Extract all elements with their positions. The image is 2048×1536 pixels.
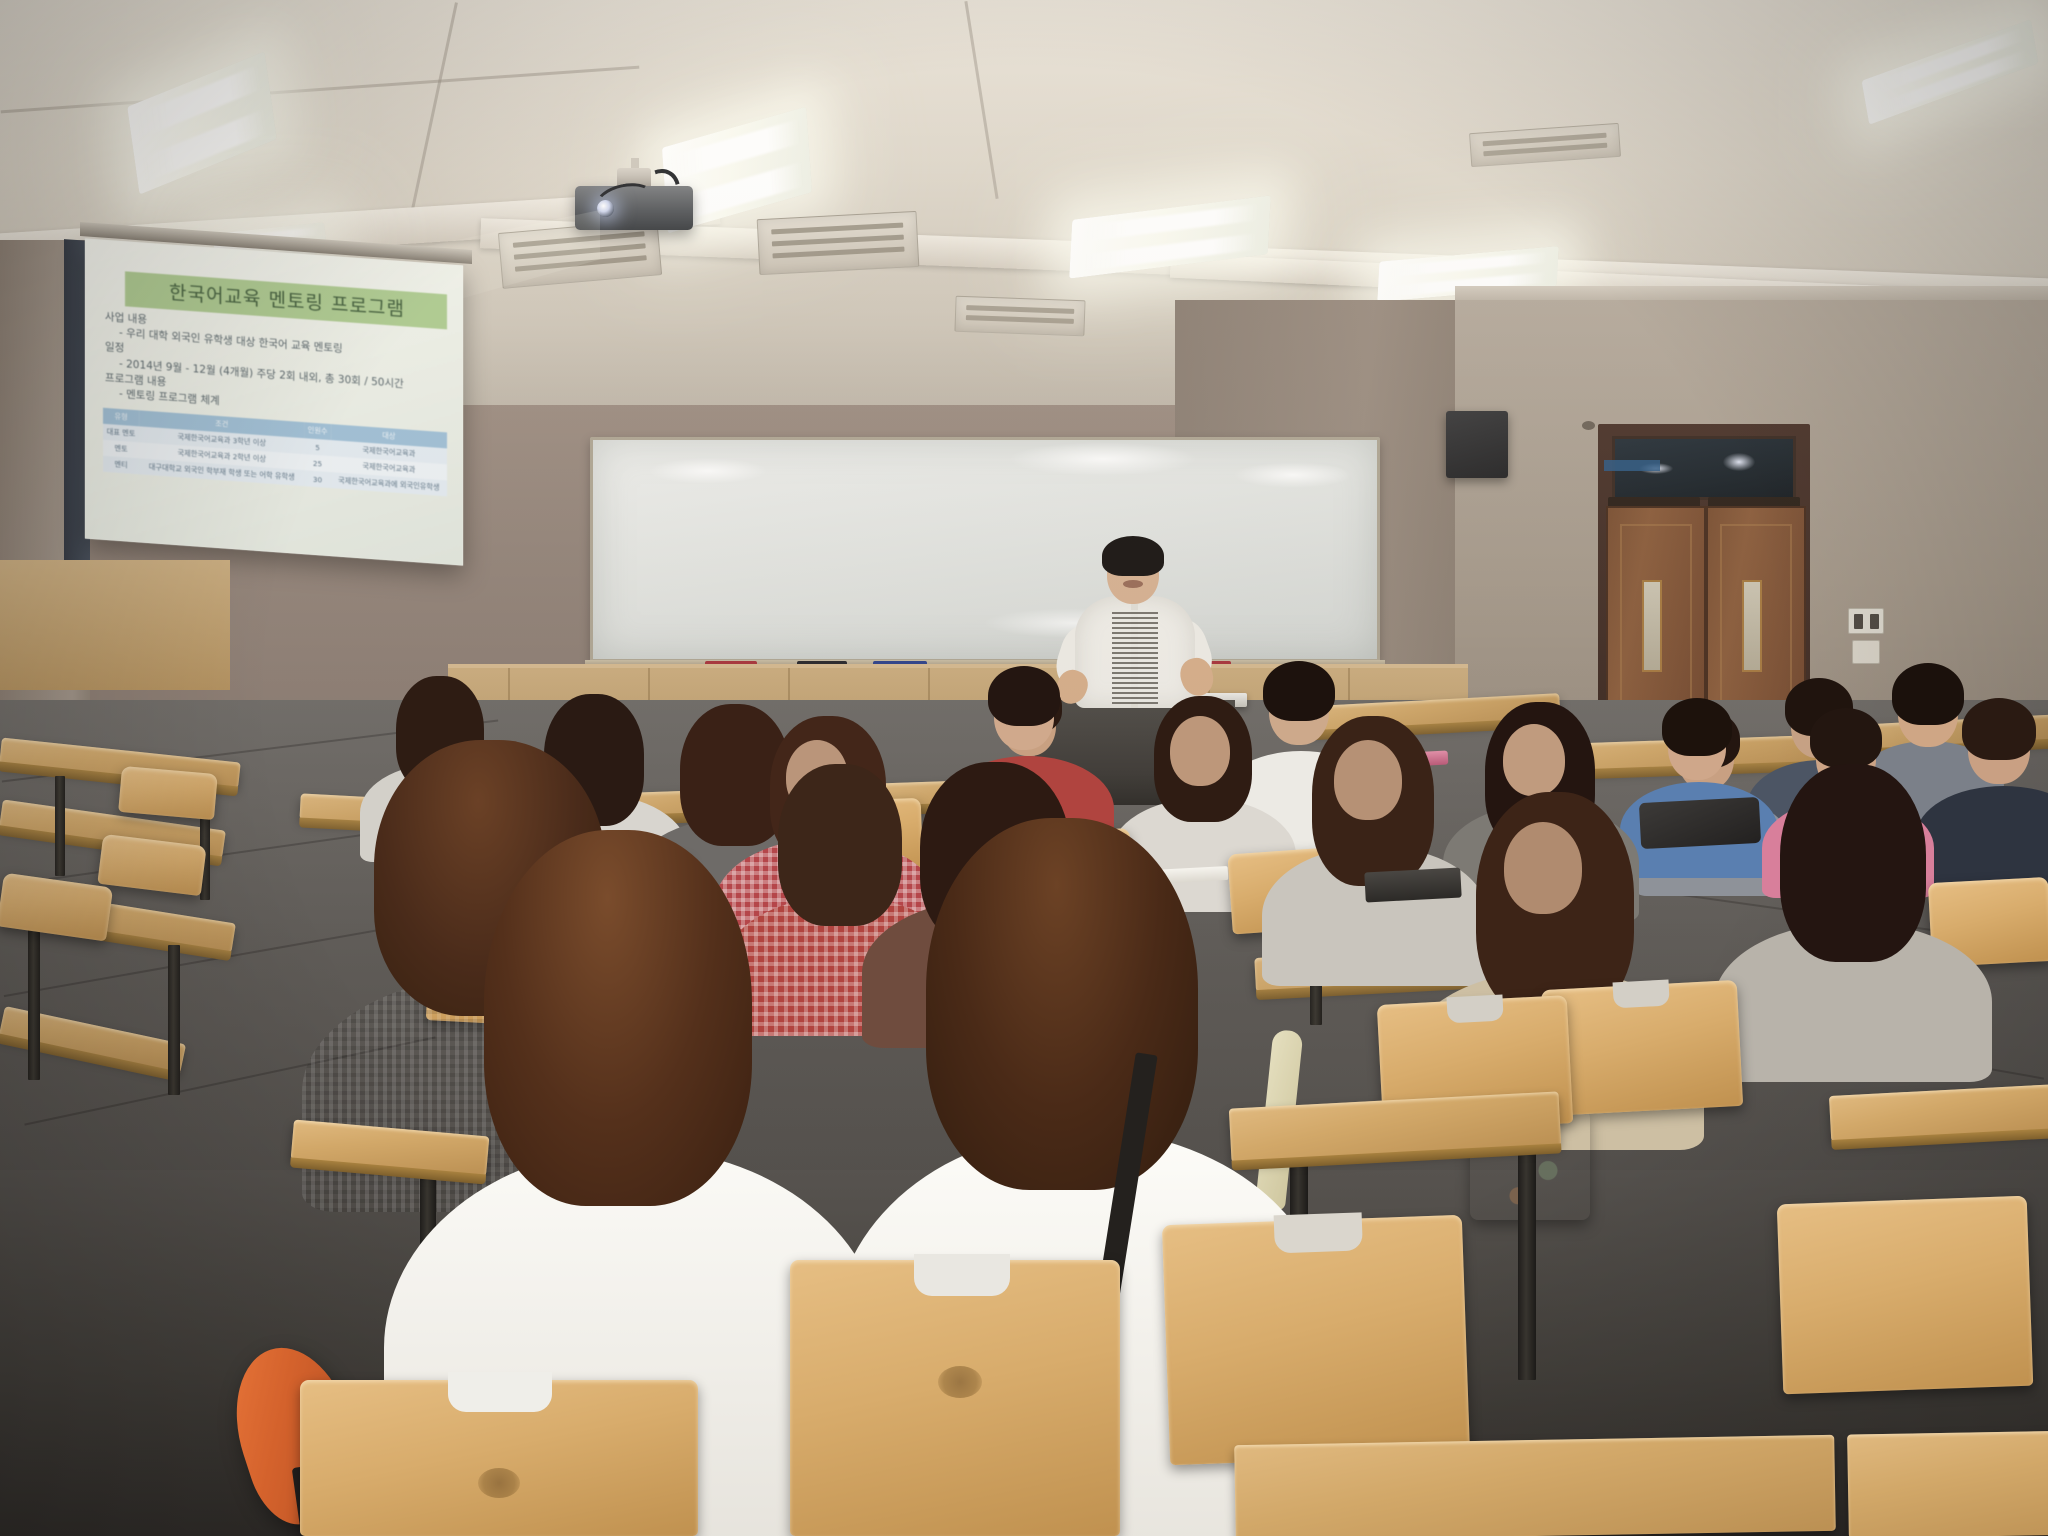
chair[interactable] xyxy=(118,766,218,820)
desk-leg xyxy=(28,930,40,1080)
chair[interactable] xyxy=(1777,1196,2033,1395)
slide-table-header-count: 인원수 xyxy=(304,422,330,440)
cell-count: 30 xyxy=(304,470,330,488)
audience-person xyxy=(1736,760,1966,1050)
projection-screen: 한국어교육 멘토링 프로그램 사업 내용 - 우리 대학 외국인 유학생 대상 … xyxy=(85,238,463,565)
slide-body: 사업 내용 - 우리 대학 외국인 유학생 대상 한국어 교육 멘토링 일정 -… xyxy=(103,310,447,426)
chair-foreground[interactable] xyxy=(300,1380,698,1536)
chair-foreground[interactable] xyxy=(790,1260,1120,1536)
presenter-mouth xyxy=(1123,580,1143,588)
cell-count: 25 xyxy=(304,454,330,472)
chair[interactable] xyxy=(1162,1215,1470,1465)
classroom-photo: 한국어교육 멘토링 프로그램 사업 내용 - 우리 대학 외국인 유학생 대상 … xyxy=(0,0,2048,1536)
ac-vent-2 xyxy=(757,211,920,275)
desk-foreground xyxy=(1847,1429,2048,1536)
ac-vent-3 xyxy=(954,296,1085,337)
cell-type: 멘티 xyxy=(103,456,139,475)
desk-leg xyxy=(1518,1150,1536,1380)
presentation-slide: 한국어교육 멘토링 프로그램 사업 내용 - 우리 대학 외국인 유학생 대상 … xyxy=(85,238,463,565)
corridor-sign xyxy=(1604,460,1660,471)
smoke-detector-icon xyxy=(1582,421,1595,430)
desk-foreground xyxy=(1234,1435,1836,1536)
desk-leg xyxy=(168,945,180,1095)
door-window-icon xyxy=(1742,580,1762,672)
left-wood-wainscot xyxy=(0,560,230,690)
presenter-hair xyxy=(1102,536,1164,576)
wall-speaker-icon xyxy=(1446,411,1508,478)
door-window-icon xyxy=(1642,580,1662,672)
whiteboard xyxy=(590,437,1380,662)
light-switch-panel[interactable] xyxy=(1848,608,1884,634)
cell-count: 5 xyxy=(304,438,330,456)
desk-leg xyxy=(55,776,65,876)
